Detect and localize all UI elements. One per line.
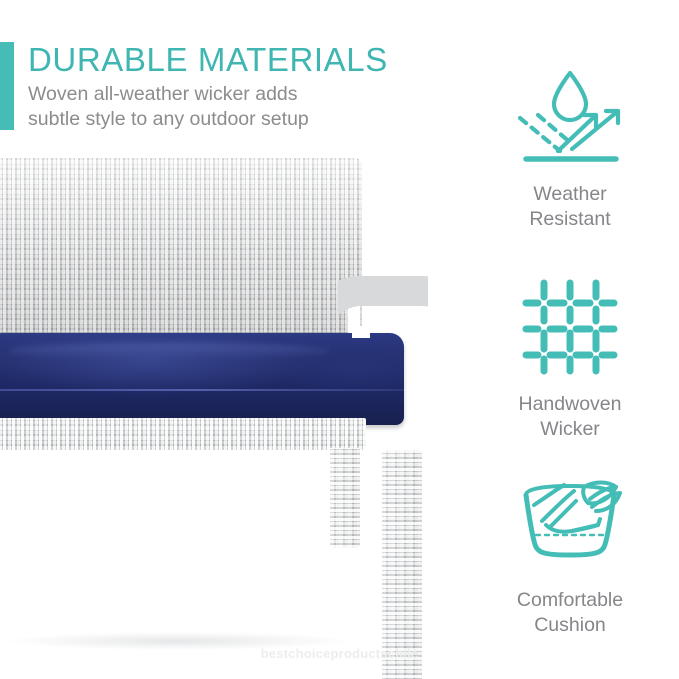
infographic-canvas: DURABLE MATERIALS Woven all-weather wick… bbox=[0, 0, 679, 679]
feature-label-line-2: Cushion bbox=[470, 613, 670, 638]
woven-wicker-weave-icon bbox=[470, 268, 670, 386]
feature-label: Comfortable Cushion bbox=[470, 588, 670, 638]
feature-label-line-1: Weather bbox=[470, 182, 670, 207]
feature-label: Handwoven Wicker bbox=[470, 392, 670, 442]
subtitle-line-1: Woven all-weather wicker adds bbox=[28, 82, 448, 107]
cushion-highlight bbox=[8, 343, 329, 359]
page-subtitle: Woven all-weather wicker adds subtle sty… bbox=[28, 82, 448, 132]
feature-label: Weather Resistant bbox=[470, 182, 670, 232]
accent-bar bbox=[0, 42, 14, 130]
feature-label-line-1: Comfortable bbox=[470, 588, 670, 613]
hand-pressing-cushion-icon bbox=[470, 464, 670, 582]
feature-comfortable-cushion: Comfortable Cushion bbox=[470, 464, 670, 638]
product-photo bbox=[0, 150, 465, 650]
feature-handwoven-wicker: Handwoven Wicker bbox=[470, 268, 670, 442]
watermark: bestchoiceproductschile bbox=[0, 646, 679, 661]
bench-backrest bbox=[0, 158, 362, 334]
header-block: DURABLE MATERIALS Woven all-weather wick… bbox=[0, 40, 470, 136]
armrest bbox=[338, 276, 428, 466]
seat-rail bbox=[0, 418, 366, 450]
feature-label-line-2: Resistant bbox=[470, 207, 670, 232]
page-title: DURABLE MATERIALS bbox=[28, 40, 388, 80]
feature-label-line-1: Handwoven bbox=[470, 392, 670, 417]
feature-label-line-2: Wicker bbox=[470, 417, 670, 442]
feature-list: Weather Resistant Handwoven bbox=[470, 46, 670, 636]
armrest-curve bbox=[338, 276, 428, 466]
feature-weather-resistant: Weather Resistant bbox=[470, 58, 670, 232]
subtitle-line-2: subtle style to any outdoor setup bbox=[28, 107, 448, 132]
water-droplet-repel-icon bbox=[470, 58, 670, 176]
